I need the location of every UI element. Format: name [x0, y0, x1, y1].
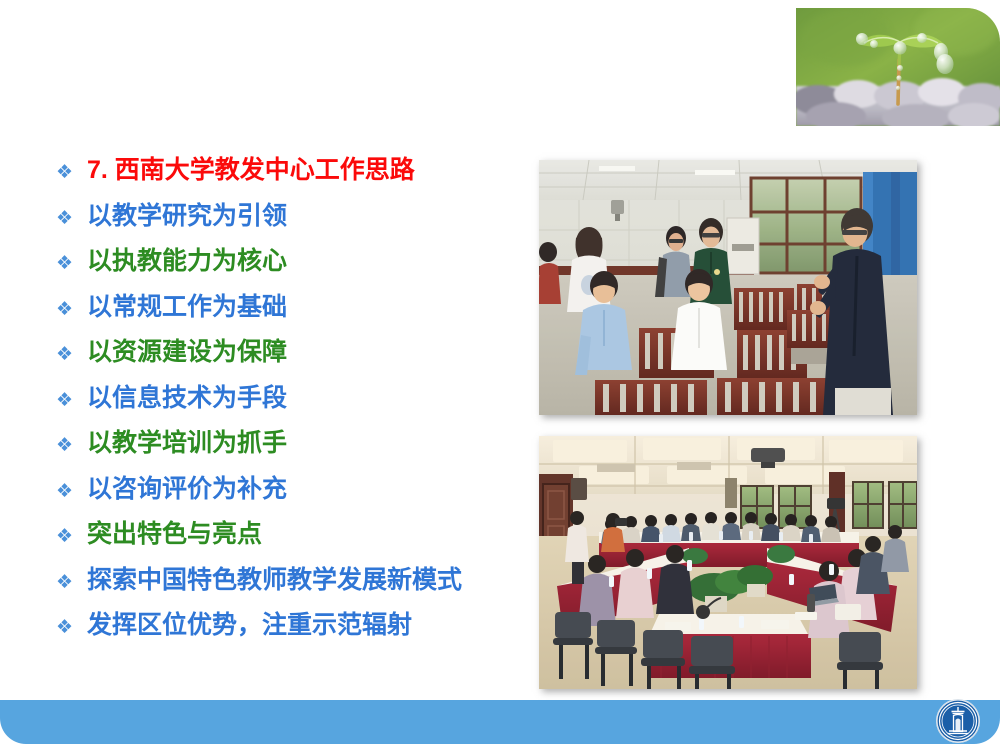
slide-root: 一、理念使命 ❖ 7. 西南大学教发中心工作思路 ❖ 以教学研究为引领 ❖ 以执…: [0, 0, 1000, 750]
list-item: ❖ 以信息技术为手段: [56, 386, 526, 432]
diamond-bullet-icon: ❖: [56, 254, 87, 273]
bullet-text: 发挥区位优势，注重示范辐射: [87, 613, 412, 638]
bullet-text: 以常规工作为基础: [87, 295, 287, 320]
bullet-text: 以教学研究为引领: [87, 204, 287, 229]
slide-header: 一、理念使命: [18, 8, 1000, 129]
diamond-bullet-icon: ❖: [56, 618, 87, 637]
diamond-bullet-icon: ❖: [56, 209, 87, 228]
diamond-bullet-icon: ❖: [56, 163, 87, 182]
footer-bar: [0, 700, 1000, 744]
southwest-university-seal-logo: [935, 698, 981, 744]
list-item: ❖ 7. 西南大学教发中心工作思路: [56, 158, 526, 204]
list-item: ❖ 以咨询评价为补充: [56, 477, 526, 523]
diamond-bullet-icon: ❖: [56, 436, 87, 455]
bullet-text: 以资源建设为保障: [87, 340, 287, 365]
bullet-text: 突出特色与亮点: [87, 522, 262, 547]
list-item: ❖ 以执教能力为核心: [56, 249, 526, 295]
list-item: ❖ 以教学研究为引领: [56, 204, 526, 250]
bullet-text: 7. 西南大学教发中心工作思路: [87, 158, 415, 183]
diamond-bullet-icon: ❖: [56, 345, 87, 364]
page-title: 一、理念使命: [63, 48, 345, 93]
classroom-discussion-photo: [539, 160, 917, 415]
diamond-bullet-icon: ❖: [56, 482, 87, 501]
diamond-bullet-icon: ❖: [56, 391, 87, 410]
conference-roundtable-photo: [539, 436, 917, 689]
diamond-bullet-icon: ❖: [56, 573, 87, 592]
list-item: ❖ 发挥区位优势，注重示范辐射: [56, 613, 526, 659]
header-decorative-photo: [796, 8, 1000, 126]
list-item: ❖ 以常规工作为基础: [56, 295, 526, 341]
conference-photo-illustration: [539, 436, 917, 689]
bullet-text: 以执教能力为核心: [87, 249, 287, 274]
classroom-photo-illustration: [539, 160, 917, 415]
list-item: ❖ 以资源建设为保障: [56, 340, 526, 386]
diamond-bullet-icon: ❖: [56, 300, 87, 319]
list-item: ❖ 探索中国特色教师教学发展新模式: [56, 568, 526, 614]
diamond-bullet-icon: ❖: [56, 527, 87, 546]
bullet-list: ❖ 7. 西南大学教发中心工作思路 ❖ 以教学研究为引领 ❖ 以执教能力为核心 …: [56, 158, 526, 659]
bullet-text: 以咨询评价为补充: [87, 477, 287, 502]
bullet-text: 以信息技术为手段: [87, 386, 287, 411]
list-item: ❖ 突出特色与亮点: [56, 522, 526, 568]
university-seal-icon: [935, 698, 981, 744]
list-item: ❖ 以教学培训为抓手: [56, 431, 526, 477]
bullet-text: 探索中国特色教师教学发展新模式: [87, 568, 462, 593]
seedling-photo-icon: [796, 8, 1000, 126]
bullet-text: 以教学培训为抓手: [87, 431, 287, 456]
